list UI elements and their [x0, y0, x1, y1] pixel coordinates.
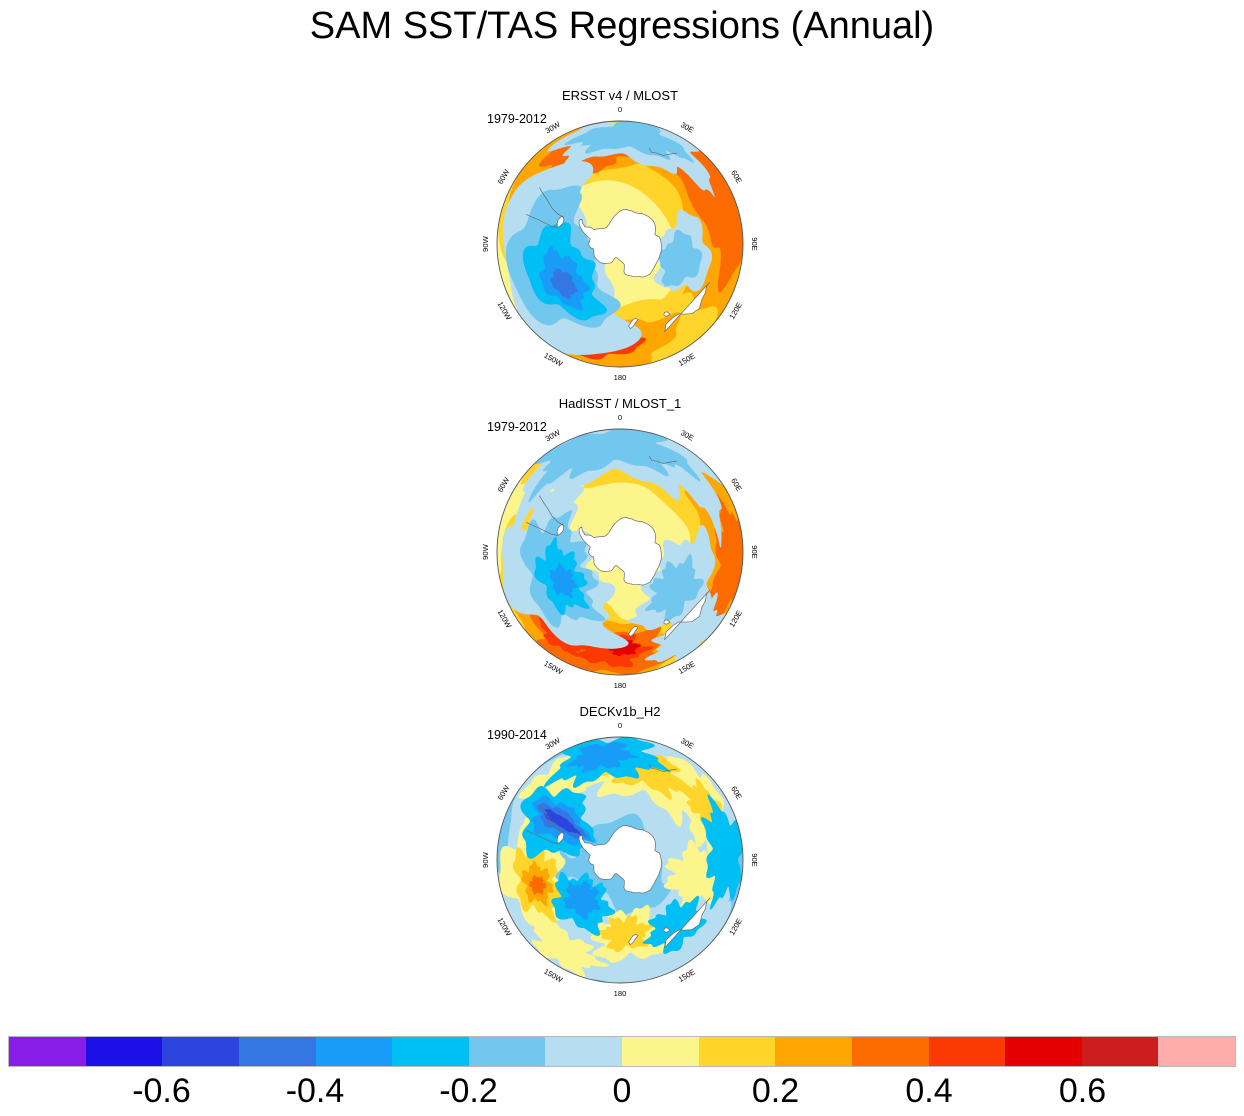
lon-label-2-60W: 60W	[496, 783, 512, 802]
lon-label-0-60E: 60E	[729, 169, 744, 185]
lon-label-1-90E: 90E	[750, 545, 759, 559]
panel-title-0: ERSST v4 / MLOST	[465, 88, 775, 103]
lon-label-0-180: 180	[614, 373, 627, 382]
field-group-2	[497, 737, 743, 983]
lon-label-2-120W: 120W	[496, 916, 514, 938]
lon-label-0-120W: 120W	[496, 300, 514, 322]
lon-label-1-60W: 60W	[496, 475, 512, 494]
lon-label-1-120W: 120W	[496, 608, 514, 630]
lon-label-1-90W: 90W	[481, 543, 490, 559]
lon-label-1-0: 0	[618, 413, 622, 422]
colorbar	[8, 1036, 1236, 1067]
lon-label-0-30W: 30W	[544, 119, 563, 135]
map-canvas-0: 030E60E90E120E150E180150W120W90W60W30W	[465, 106, 775, 388]
colorbar-swatch-15	[1158, 1037, 1235, 1066]
field-group-1	[497, 429, 743, 675]
colorbar-swatch-7	[545, 1037, 622, 1066]
lon-label-1-150W: 150W	[542, 659, 564, 677]
colorbar-swatch-10	[775, 1037, 852, 1066]
colorbar-swatch-12	[929, 1037, 1006, 1066]
colorbar-swatch-14	[1082, 1037, 1159, 1066]
map-panel-1: HadISST / MLOST_1 1979-2012 030E60E90E12…	[465, 396, 775, 696]
lon-label-1-60E: 60E	[729, 477, 744, 493]
colorbar-swatch-13	[1005, 1037, 1082, 1066]
colorbar-swatch-3	[239, 1037, 316, 1066]
lon-label-2-60E: 60E	[729, 785, 744, 801]
colorbar-tick-labels: -0.6-0.4-0.200.20.40.6	[0, 1068, 1244, 1114]
panel-title-1: HadISST / MLOST_1	[465, 396, 775, 411]
lon-label-2-150E: 150E	[677, 967, 697, 984]
lon-label-1-120E: 120E	[727, 609, 744, 629]
colorbar-swatch-1	[86, 1037, 163, 1066]
colorbar-swatch-4	[316, 1037, 393, 1066]
field-group-0	[497, 121, 743, 367]
colorbar-tick-2: -0.2	[439, 1068, 498, 1114]
figure-title: SAM SST/TAS Regressions (Annual)	[0, 5, 1244, 48]
polar-map-1: 030E60E90E120E150E180150W120W90W60W30W	[465, 414, 775, 696]
lon-label-2-90E: 90E	[750, 853, 759, 867]
lon-label-1-30W: 30W	[544, 427, 563, 443]
colorbar-swatch-9	[699, 1037, 776, 1066]
colorbar-tick-5: 0.4	[905, 1068, 952, 1114]
lon-label-0-90E: 90E	[750, 237, 759, 251]
lon-label-2-120E: 120E	[727, 917, 744, 937]
colorbar-tick-0: -0.6	[132, 1068, 191, 1114]
lon-label-0-150W: 150W	[542, 351, 564, 369]
map-canvas-1: 030E60E90E120E150E180150W120W90W60W30W	[465, 414, 775, 696]
colorbar-swatch-2	[162, 1037, 239, 1066]
lon-label-0-150E: 150E	[677, 351, 697, 368]
lon-label-2-30W: 30W	[544, 735, 563, 751]
lon-label-0-60W: 60W	[496, 167, 512, 186]
lon-label-0-30E: 30E	[679, 120, 695, 135]
colorbar-tick-6: 0.6	[1059, 1068, 1106, 1114]
colorbar-swatch-11	[852, 1037, 929, 1066]
figure-root: SAM SST/TAS Regressions (Annual) ERSST v…	[0, 0, 1244, 1116]
polar-map-2: 030E60E90E120E150E180150W120W90W60W30W	[465, 722, 775, 1004]
lon-label-1-30E: 30E	[679, 428, 695, 443]
polar-map-0: 030E60E90E120E150E180150W120W90W60W30W	[465, 106, 775, 388]
map-canvas-2: 030E60E90E120E150E180150W120W90W60W30W	[465, 722, 775, 1004]
colorbar-tick-4: 0.2	[752, 1068, 799, 1114]
lon-label-2-0: 0	[618, 721, 622, 730]
lon-label-2-180: 180	[614, 989, 627, 998]
lon-label-0-90W: 90W	[481, 235, 490, 251]
colorbar-tick-1: -0.4	[286, 1068, 345, 1114]
colorbar-swatch-6	[469, 1037, 546, 1066]
map-panel-0: ERSST v4 / MLOST 1979-2012 030E60E90E120…	[465, 88, 775, 388]
map-panel-2: DECKv1b_H2 1990-2014 030E60E90E120E150E1…	[465, 704, 775, 1004]
colorbar-tick-3: 0	[613, 1068, 632, 1114]
lon-label-1-180: 180	[614, 681, 627, 690]
lon-label-0-0: 0	[618, 105, 622, 114]
lon-label-0-120E: 120E	[727, 301, 744, 321]
colorbar-swatch-5	[392, 1037, 469, 1066]
colorbar-swatch-8	[622, 1037, 699, 1066]
lon-label-1-150E: 150E	[677, 659, 697, 676]
lon-label-2-30E: 30E	[679, 736, 695, 751]
lon-label-2-90W: 90W	[481, 851, 490, 867]
panel-title-2: DECKv1b_H2	[465, 704, 775, 719]
colorbar-swatch-0	[9, 1037, 86, 1066]
lon-label-2-150W: 150W	[542, 967, 564, 985]
